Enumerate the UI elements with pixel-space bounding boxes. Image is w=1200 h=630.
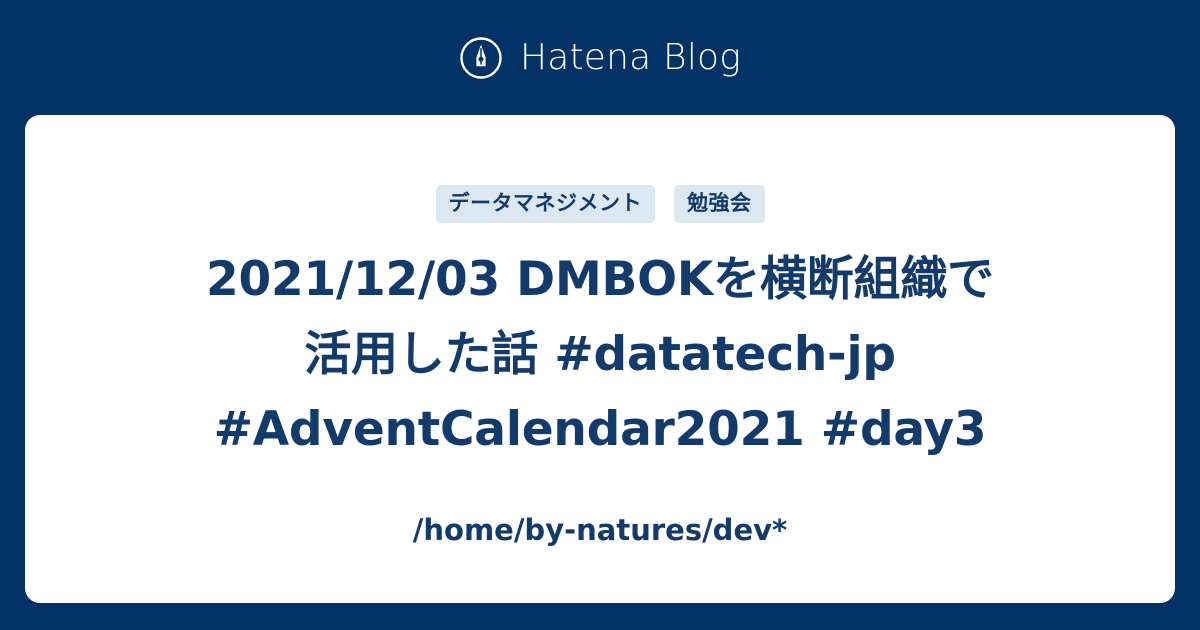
brand-header: Hatena Blog (0, 0, 1200, 115)
entry-title-line: 活用した話 #datatech-jp (65, 317, 1135, 392)
brand-name: Hatena Blog (520, 40, 741, 76)
entry-title-line: #AdventCalendar2021 #day3 (65, 392, 1135, 467)
pen-nib-in-circle-icon (459, 36, 503, 80)
tag-list: データマネジメント 勉強会 (436, 185, 765, 223)
tag-item[interactable]: 勉強会 (674, 185, 765, 223)
tag-item[interactable]: データマネジメント (436, 185, 656, 223)
entry-card: データマネジメント 勉強会 2021/12/03 DMBOKを横断組織で 活用し… (25, 115, 1175, 603)
og-image-card: Hatena Blog データマネジメント 勉強会 2021/12/03 DMB… (0, 0, 1200, 630)
entry-title-line: 2021/12/03 DMBOKを横断組織で (65, 242, 1135, 317)
blog-name: /home/by-natures/dev* (65, 513, 1135, 548)
entry-title: 2021/12/03 DMBOKを横断組織で 活用した話 #datatech-j… (65, 242, 1135, 467)
